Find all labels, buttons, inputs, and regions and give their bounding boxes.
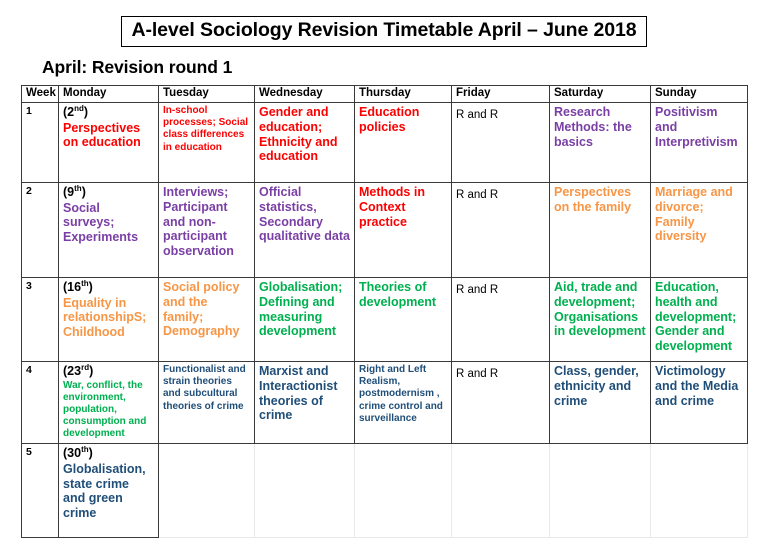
date-label: (9th)	[63, 185, 154, 200]
cell-topic: Social surveys; Experiments	[63, 201, 154, 245]
table-row: 4 (23rd) War, conflict, the environment,…	[22, 362, 748, 444]
cell-topic: Globalisation, state crime and green cri…	[63, 462, 154, 521]
cell-saturday	[550, 444, 651, 538]
table-header-row: Week Monday Tuesday Wednesday Thursday F…	[22, 86, 748, 103]
cell-topic: War, conflict, the environment, populati…	[63, 380, 154, 441]
column-header-sunday: Sunday	[651, 86, 748, 103]
cell-topic: R and R	[456, 109, 498, 121]
cell-sunday: Victimology and the Media and crime	[651, 362, 748, 444]
cell-topic: Perspectives on education	[63, 121, 154, 151]
column-header-wednesday: Wednesday	[255, 86, 355, 103]
cell-topic: Official statistics, Secondary qualitati…	[259, 185, 350, 244]
cell-topic: Right and Left Realism, postmodernism , …	[359, 364, 447, 425]
cell-topic: Aid, trade and development; Organisation…	[554, 280, 646, 339]
cell-monday: (23rd) War, conflict, the environment, p…	[59, 362, 159, 444]
week-number: 3	[22, 278, 59, 362]
cell-monday: (16th) Equality in relationshipS; Childh…	[59, 278, 159, 362]
cell-topic: Gender and education; Ethnicity and educ…	[259, 105, 350, 164]
date-label: (23rd)	[63, 364, 154, 379]
cell-topic: Class, gender, ethnicity and crime	[554, 364, 646, 408]
cell-monday: (30th) Globalisation, state crime and gr…	[59, 444, 159, 538]
column-header-saturday: Saturday	[550, 86, 651, 103]
cell-topic: Perspectives on the family	[554, 185, 646, 215]
revision-timetable: Week Monday Tuesday Wednesday Thursday F…	[21, 85, 748, 538]
week-number: 2	[22, 183, 59, 278]
cell-topic: Social policy and the family; Demography	[163, 280, 250, 339]
page-title-container: A-level Sociology Revision Timetable Apr…	[0, 16, 768, 47]
week-number: 1	[22, 103, 59, 183]
cell-monday: (9th) Social surveys; Experiments	[59, 183, 159, 278]
cell-topic: R and R	[456, 189, 498, 201]
cell-tuesday: Interviews; Participant and non-particip…	[159, 183, 255, 278]
cell-topic: Education, health and development; Gende…	[655, 280, 743, 354]
section-subtitle: April: Revision round 1	[42, 57, 232, 78]
table-row: 3 (16th) Equality in relationshipS; Chil…	[22, 278, 748, 362]
page-title: A-level Sociology Revision Timetable Apr…	[121, 16, 646, 47]
cell-wednesday: Gender and education; Ethnicity and educ…	[255, 103, 355, 183]
cell-topic: Education policies	[359, 105, 447, 135]
timetable-container: Week Monday Tuesday Wednesday Thursday F…	[21, 85, 747, 538]
column-header-tuesday: Tuesday	[159, 86, 255, 103]
cell-wednesday: Marxist and Interactionist theories of c…	[255, 362, 355, 444]
cell-topic: Research Methods: the basics	[554, 105, 646, 149]
date-label: (30th)	[63, 446, 154, 461]
cell-thursday	[355, 444, 452, 538]
week-number: 4	[22, 362, 59, 444]
cell-sunday: Positivism and Interpretivism	[651, 103, 748, 183]
cell-tuesday	[159, 444, 255, 538]
cell-sunday: Marriage and divorce; Family diversity	[651, 183, 748, 278]
cell-thursday: Theories of development	[355, 278, 452, 362]
cell-topic: In-school processes; Social class differ…	[163, 105, 250, 154]
cell-topic: Globalisation; Defining and measuring de…	[259, 280, 350, 339]
cell-tuesday: In-school processes; Social class differ…	[159, 103, 255, 183]
cell-topic: Theories of development	[359, 280, 447, 310]
table-row: 5 (30th) Globalisation, state crime and …	[22, 444, 748, 538]
cell-saturday: Class, gender, ethnicity and crime	[550, 362, 651, 444]
column-header-thursday: Thursday	[355, 86, 452, 103]
cell-topic: Marriage and divorce; Family diversity	[655, 185, 743, 244]
cell-wednesday: Globalisation; Defining and measuring de…	[255, 278, 355, 362]
cell-topic: R and R	[456, 284, 498, 296]
cell-topic: Victimology and the Media and crime	[655, 364, 743, 408]
cell-topic: Marxist and Interactionist theories of c…	[259, 364, 350, 423]
cell-saturday: Research Methods: the basics	[550, 103, 651, 183]
column-header-friday: Friday	[452, 86, 550, 103]
cell-topic: Methods in Context practice	[359, 185, 447, 229]
cell-tuesday: Functionalist and strain theories and su…	[159, 362, 255, 444]
cell-sunday: Education, health and development; Gende…	[651, 278, 748, 362]
cell-topic: Equality in relationshipS; Childhood	[63, 296, 154, 340]
cell-wednesday: Official statistics, Secondary qualitati…	[255, 183, 355, 278]
column-header-week: Week	[22, 86, 59, 103]
cell-thursday: Methods in Context practice	[355, 183, 452, 278]
cell-topic: R and R	[456, 368, 498, 380]
date-label: (16th)	[63, 280, 154, 295]
cell-sunday	[651, 444, 748, 538]
cell-topic: Interviews; Participant and non-particip…	[163, 185, 250, 259]
document-page: A-level Sociology Revision Timetable Apr…	[0, 0, 768, 543]
cell-wednesday	[255, 444, 355, 538]
cell-friday: R and R	[452, 103, 550, 183]
cell-friday: R and R	[452, 278, 550, 362]
column-header-monday: Monday	[59, 86, 159, 103]
date-label: (2nd)	[63, 105, 154, 120]
cell-topic: Positivism and Interpretivism	[655, 105, 743, 149]
cell-saturday: Perspectives on the family	[550, 183, 651, 278]
cell-topic: Functionalist and strain theories and su…	[163, 364, 250, 413]
week-number: 5	[22, 444, 59, 538]
cell-thursday: Education policies	[355, 103, 452, 183]
cell-monday: (2nd) Perspectives on education	[59, 103, 159, 183]
cell-thursday: Right and Left Realism, postmodernism , …	[355, 362, 452, 444]
table-row: 2 (9th) Social surveys; Experiments Inte…	[22, 183, 748, 278]
cell-friday: R and R	[452, 183, 550, 278]
cell-tuesday: Social policy and the family; Demography	[159, 278, 255, 362]
cell-friday: R and R	[452, 362, 550, 444]
cell-friday	[452, 444, 550, 538]
cell-saturday: Aid, trade and development; Organisation…	[550, 278, 651, 362]
table-row: 1 (2nd) Perspectives on education In-sch…	[22, 103, 748, 183]
